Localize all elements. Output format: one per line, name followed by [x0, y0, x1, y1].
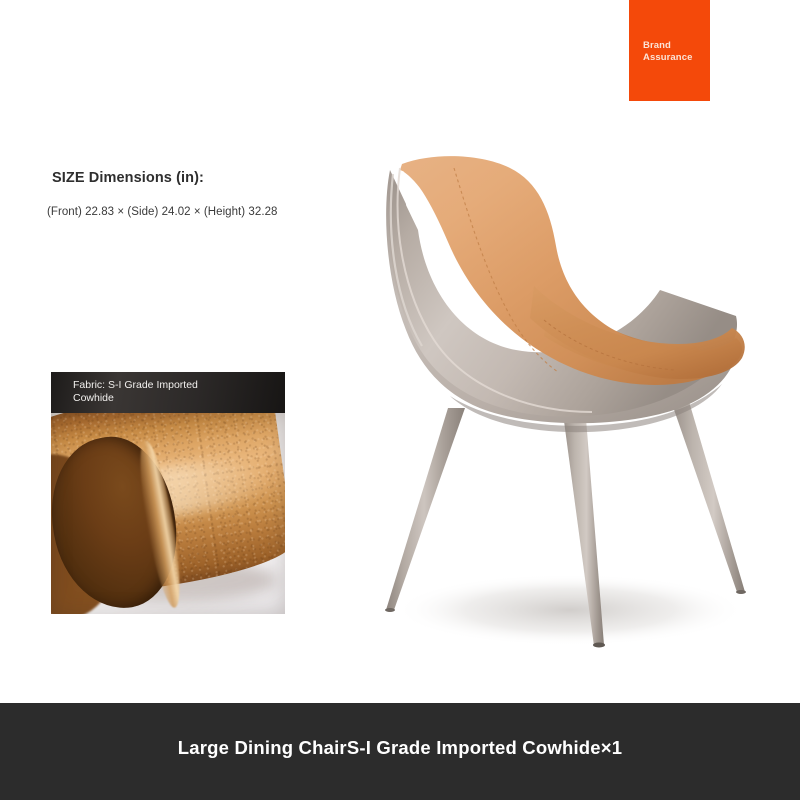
fabric-panel-header: Fabric: S-I Grade Imported Cowhide — [51, 372, 285, 413]
brand-assurance-badge: Brand Assurance — [629, 0, 710, 101]
product-image-page: Brand Assurance SIZE Dimensions (in): (F… — [0, 0, 800, 800]
chair-leg-tip-front — [593, 643, 605, 648]
chair-leg-back-left — [386, 408, 465, 610]
chair-leg-tip-left — [385, 608, 395, 612]
chair-illustration — [330, 140, 780, 670]
fabric-swatch-panel: Fabric: S-I Grade Imported Cowhide — [51, 372, 285, 614]
chair-product-image — [330, 140, 780, 670]
fabric-swatch-photo — [51, 413, 285, 614]
product-caption: Large Dining ChairS-I Grade Imported Cow… — [0, 737, 800, 759]
caption-bar: Large Dining ChairS-I Grade Imported Cow… — [0, 703, 800, 800]
chair-floor-shadow — [395, 574, 745, 646]
brand-assurance-label: Brand Assurance — [643, 40, 692, 63]
chair-leg-tip-right — [736, 590, 746, 594]
fabric-label: Fabric: S-I Grade Imported Cowhide — [73, 379, 279, 405]
